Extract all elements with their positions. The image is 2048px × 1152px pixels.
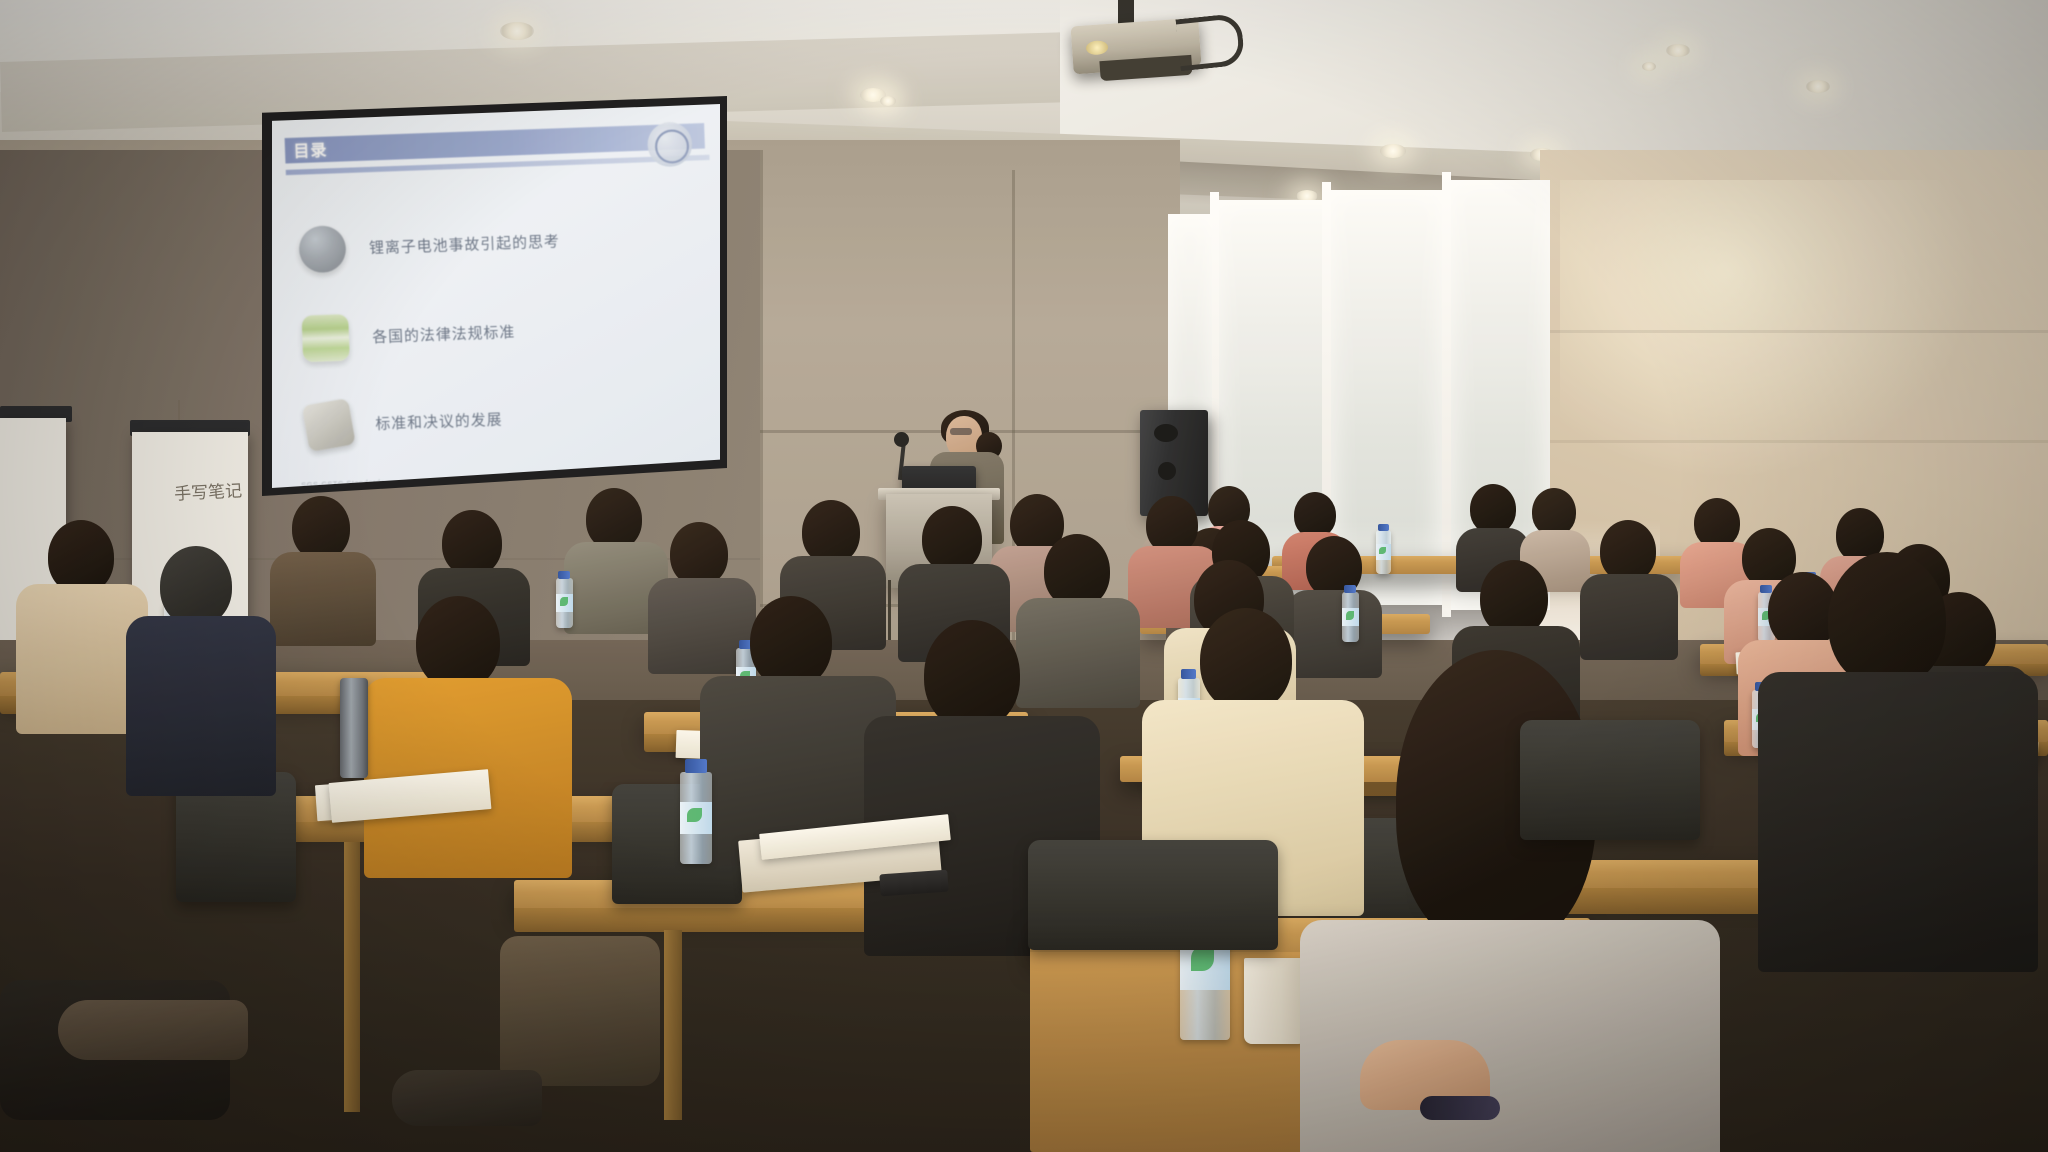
attendee-head [1044, 534, 1110, 608]
logo-inner-ring [654, 129, 689, 164]
shoe [58, 1000, 248, 1060]
bottle-label [1376, 544, 1391, 560]
bottle-cap [1344, 585, 1356, 593]
attendee-head [1532, 488, 1576, 536]
attendee-torso [270, 552, 376, 646]
attendee-head [922, 506, 982, 572]
sphere-bullet-icon [298, 225, 346, 273]
attendee-head [1694, 498, 1740, 548]
ceiling-light [880, 96, 896, 106]
slide-bullet-1-label: 锂离子电池事故引起的思考 [369, 230, 560, 258]
attendee-head [802, 500, 860, 564]
attendee-torso [1580, 574, 1678, 660]
classroom-photo: 目录 锂离子电池事故引起的思考 各国的法律法规标准 标准和决议的发展 SGS-C… [0, 0, 2048, 1152]
attendee-torso [1300, 920, 1720, 1152]
attendee-head [292, 496, 350, 560]
chair [1028, 840, 1278, 950]
attendee-head [1200, 608, 1292, 712]
cube-bullet-icon [302, 398, 356, 452]
speaker-driver [1154, 424, 1178, 442]
water-bottle [1342, 592, 1359, 642]
slide-bullet-3-label: 标准和决议的发展 [375, 408, 503, 434]
speaker-driver [1158, 462, 1176, 480]
attendee-head [750, 596, 832, 688]
attendee-head [160, 546, 232, 626]
attendee-head [1828, 552, 1946, 688]
attendee-head [586, 488, 642, 550]
bottle-cap [1181, 669, 1196, 679]
slide-bullet-3: 标准和决议的发展 [305, 396, 504, 450]
bottle-cap [1760, 585, 1772, 593]
attendee-head [48, 520, 114, 594]
microphone-icon [894, 432, 909, 447]
paper-cup [1244, 958, 1306, 1044]
ceiling-light [500, 22, 534, 40]
bottle-cap [558, 571, 570, 579]
attendee-head [416, 596, 500, 690]
bottle-label [556, 594, 573, 612]
slide-bullet-1: 锂离子电池事故引起的思考 [298, 217, 560, 273]
attendee-torso [126, 616, 276, 796]
attendee-torso [1286, 590, 1382, 678]
handbag [500, 936, 660, 1086]
attendee-head [1480, 560, 1548, 636]
attendee-torso [1758, 672, 2038, 972]
ceiling-light [1666, 44, 1690, 57]
thermos-flask [340, 678, 368, 778]
desk-leg [664, 930, 682, 1120]
water-bottle [556, 578, 573, 628]
bottle-label [1342, 608, 1359, 626]
wrist-bracelet [1420, 1096, 1500, 1120]
bottle-cap [685, 759, 707, 773]
attendee-head [924, 620, 1020, 730]
shoe [392, 1070, 542, 1126]
slide-bullet-2: 各国的法律法规标准 [302, 308, 517, 362]
slide-bullet-2-label: 各国的法律法规标准 [372, 321, 516, 347]
chair [1520, 720, 1700, 840]
attendee-head [1470, 484, 1516, 534]
presentation-slide: 目录 锂离子电池事故引起的思考 各国的法律法规标准 标准和决议的发展 SGS-C… [272, 104, 720, 488]
attendee-head [442, 510, 502, 576]
wall-seam [1540, 440, 2048, 443]
ceiling-light [1380, 144, 1406, 158]
slide-title: 目录 [293, 139, 328, 162]
ceiling-light [1642, 62, 1656, 71]
flipchart-right-note: 手写笔记 [173, 476, 242, 505]
attendee-head [670, 522, 728, 586]
wall-seam [1540, 330, 2048, 333]
desk-leg [344, 842, 360, 1112]
presenter-glasses-icon [950, 428, 972, 435]
mobile-phone [879, 870, 948, 897]
bottle-label [680, 802, 712, 834]
projection-screen: 目录 锂离子电池事故引起的思考 各国的法律法规标准 标准和决议的发展 SGS-C… [272, 104, 720, 488]
attendee-torso [1016, 598, 1140, 708]
ceiling-light [1806, 80, 1830, 93]
water-bottle [680, 772, 712, 864]
green-battery-icon [302, 314, 350, 362]
attendee-head [1600, 520, 1656, 582]
bottle-cap [1378, 524, 1389, 531]
water-bottle [1376, 530, 1391, 574]
